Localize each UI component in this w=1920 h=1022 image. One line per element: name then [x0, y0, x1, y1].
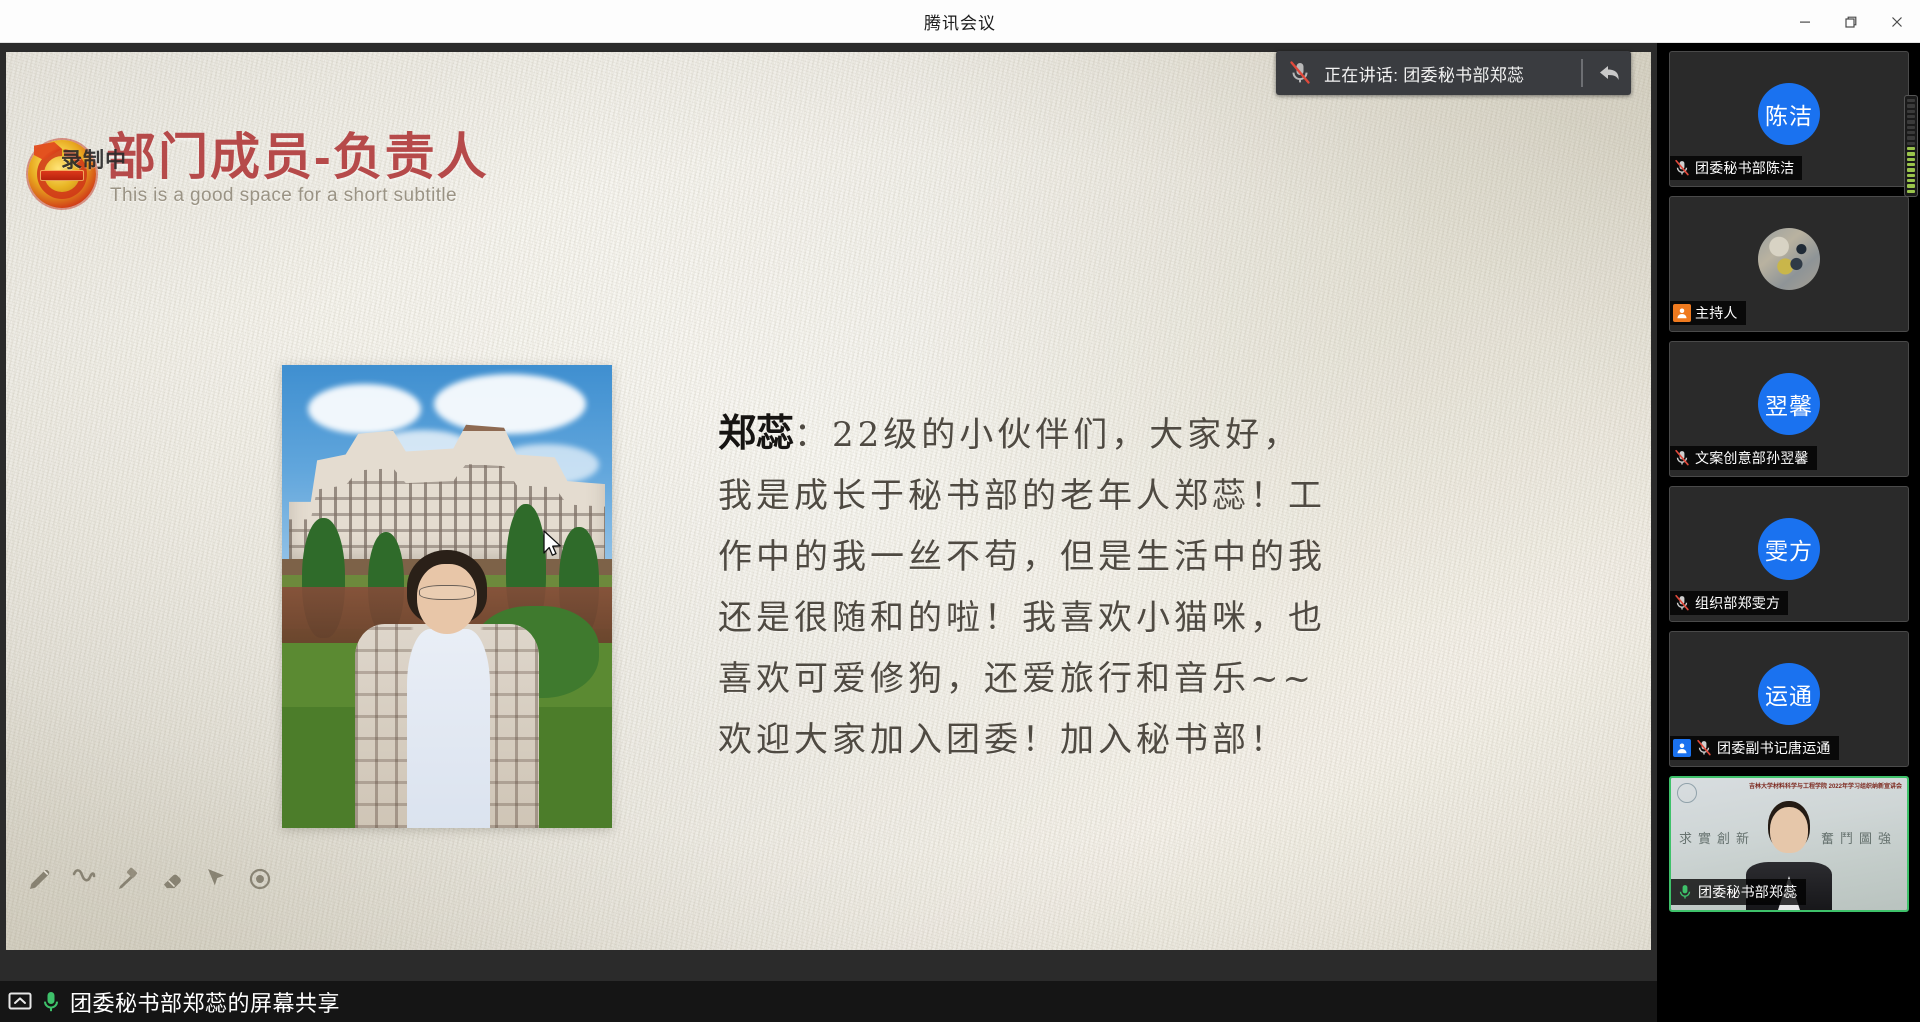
slide-body-line-4: 还是很随和的啦！我喜欢小猫咪，也 [718, 588, 1458, 649]
share-status-label: 团委秘书部郑蕊的屏幕共享 [70, 986, 340, 1018]
minimize-button[interactable] [1782, 0, 1828, 43]
person-icon [1676, 307, 1688, 319]
slide-portrait-photo [282, 365, 612, 828]
annotation-toolbar[interactable] [12, 856, 288, 902]
highlighter-icon[interactable] [114, 865, 142, 893]
avatar: 陈洁 [1758, 83, 1820, 145]
mic-on-icon [1676, 883, 1694, 901]
participant-namebar: 主持人 [1670, 301, 1746, 325]
slide-body-line-6: 欢迎大家加入团委！加入秘书部！ [718, 710, 1458, 771]
mic-on-icon [41, 990, 61, 1014]
shared-screen-region[interactable]: 部门成员-负责人 This is a good space for a shor… [0, 43, 1657, 1022]
mic-muted-icon [1673, 449, 1691, 467]
video-overlay-title: 吉林大学材料科学与工程学院 2022年学习组织纳新宣讲会 [1749, 783, 1902, 792]
pen-icon[interactable] [26, 865, 54, 893]
minimize-icon [1797, 14, 1813, 30]
participant-tile[interactable]: 主持人 [1669, 196, 1909, 332]
participant-tile[interactable]: 翌馨 文案创意部孙翌馨 [1669, 341, 1909, 477]
speaking-indicator[interactable]: 正在讲话: 团委秘书部郑蕊 [1276, 51, 1631, 95]
restore-icon [1843, 14, 1859, 30]
mic-muted-icon [1673, 159, 1691, 177]
avatar: 雯方 [1758, 518, 1820, 580]
participant-name: 团委副书记唐运通 [1717, 738, 1831, 758]
pointer-icon[interactable] [202, 865, 230, 893]
avatar: 运通 [1758, 663, 1820, 725]
mic-muted-icon [1695, 739, 1713, 757]
share-status-bar: 团委秘书部郑蕊的屏幕共享 [0, 981, 1657, 1022]
slide-body-line1-rest: 22级的小伙伴们，大家好， [832, 415, 1301, 455]
video-slogan-left: 求實創新 [1679, 828, 1755, 847]
audio-level-meter[interactable] [1904, 95, 1918, 197]
mic-muted-icon [1673, 594, 1691, 612]
slide-speaker-name: 郑蕊 [718, 413, 794, 455]
participant-name: 团委秘书部郑蕊 [1698, 882, 1797, 902]
slide-body-line-2: 我是成长于秘书部的老年人郑蕊！工 [718, 466, 1458, 527]
meeting-stage: 部门成员-负责人 This is a good space for a shor… [0, 43, 1920, 1022]
laser-icon[interactable] [246, 865, 274, 893]
participant-tile[interactable]: 运通 团委副书记唐运通 [1669, 631, 1909, 767]
back-arrow-icon[interactable] [1598, 62, 1622, 84]
slide-title: 部门成员-负责人 [106, 132, 489, 183]
close-button[interactable] [1874, 0, 1920, 43]
slide-body-line-5: 喜欢可爱修狗，还爱旅行和音乐~~ [718, 649, 1458, 710]
mic-muted-icon [1288, 60, 1312, 86]
slide-subtitle: This is a good space for a short subtitl… [110, 185, 489, 207]
participant-name: 团委秘书部陈洁 [1695, 158, 1794, 178]
tencent-meeting-window: 腾讯会议 [0, 0, 1920, 1022]
host-badge [1673, 304, 1691, 322]
recording-indicator-label: 录制中 [61, 144, 127, 174]
participant-namebar: 团委秘书部郑蕊 [1671, 879, 1806, 905]
avatar: 翌馨 [1758, 373, 1820, 435]
avatar [1758, 228, 1820, 290]
participant-rail[interactable]: 陈洁 团委秘书部陈洁 [1657, 43, 1920, 1022]
participant-namebar: 团委秘书部陈洁 [1670, 156, 1802, 180]
window-controls [1782, 0, 1920, 43]
university-seal-icon [1677, 783, 1697, 803]
participant-namebar: 团委副书记唐运通 [1670, 736, 1839, 760]
person-icon [1676, 742, 1688, 754]
slide-body-line-1: 郑蕊：22级的小伙伴们，大家好， [718, 404, 1458, 466]
window-titlebar: 腾讯会议 [0, 0, 1920, 43]
slide-body-colon: ： [794, 415, 832, 455]
participant-tile[interactable]: 雯方 组织部郑雯方 [1669, 486, 1909, 622]
slide-body-text: 郑蕊：22级的小伙伴们，大家好， 我是成长于秘书部的老年人郑蕊！工 作中的我一丝… [718, 404, 1458, 771]
squiggle-icon[interactable] [70, 865, 98, 893]
cohost-badge [1673, 739, 1691, 757]
close-icon [1889, 14, 1905, 30]
presentation-slide: 部门成员-负责人 This is a good space for a shor… [6, 52, 1651, 950]
participant-name: 主持人 [1695, 303, 1738, 323]
participant-tile[interactable]: 陈洁 团委秘书部陈洁 [1669, 51, 1909, 187]
participant-name: 组织部郑雯方 [1695, 593, 1780, 613]
speaking-bar-divider [1581, 59, 1583, 87]
participant-tile-active-speaker[interactable]: 吉林大学材料科学与工程学院 2022年学习组织纳新宣讲会 求實創新 奮鬥圖強 团… [1669, 776, 1909, 912]
video-slogan-right: 奮鬥圖強 [1821, 828, 1897, 847]
window-title: 腾讯会议 [924, 9, 996, 34]
eraser-icon[interactable] [158, 865, 186, 893]
restore-button[interactable] [1828, 0, 1874, 43]
participant-namebar: 组织部郑雯方 [1670, 591, 1788, 615]
slide-body-line-3: 作中的我一丝不苟，但是生活中的我 [718, 527, 1458, 588]
participant-namebar: 文案创意部孙翌馨 [1670, 446, 1817, 470]
speaking-indicator-label: 正在讲话: 团委秘书部郑蕊 [1324, 61, 1524, 86]
screen-share-icon [8, 991, 32, 1013]
participant-name: 文案创意部孙翌馨 [1695, 448, 1809, 468]
